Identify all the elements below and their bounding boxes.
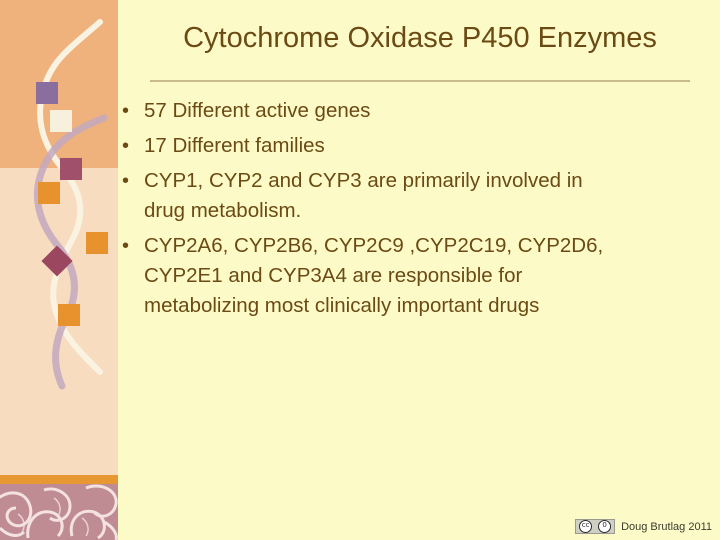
- slide: Cytochrome Oxidase P450 Enzymes • 57 Dif…: [0, 0, 720, 540]
- bullet-marker-icon: •: [118, 131, 144, 161]
- decorative-square-orange-1: [38, 182, 60, 204]
- list-item-text: CYP1, CYP2 and CYP3 are primarily involv…: [144, 166, 614, 226]
- sidebar-orange-band: [0, 475, 118, 484]
- list-item-text: 17 Different families: [144, 131, 614, 161]
- credit-text: Doug Brutlag 2011: [621, 521, 712, 533]
- list-item: • 57 Different active genes: [118, 96, 718, 126]
- decorative-sidebar: [0, 0, 118, 540]
- list-item-text: 57 Different active genes: [144, 96, 614, 126]
- bullet-list: • 57 Different active genes • 17 Differe…: [118, 96, 718, 326]
- list-item: • CYP1, CYP2 and CYP3 are primarily invo…: [118, 166, 718, 226]
- sidebar-paisley-panel: [0, 484, 118, 540]
- decorative-square-orange-2: [86, 232, 108, 254]
- bullet-marker-icon: •: [118, 166, 144, 196]
- decorative-square-purple: [36, 82, 58, 104]
- decorative-square-maroon: [60, 158, 82, 180]
- bullet-marker-icon: •: [118, 231, 144, 261]
- by-icon: 0: [598, 520, 611, 533]
- list-item: • 17 Different families: [118, 131, 718, 161]
- title-divider: [150, 80, 690, 82]
- creative-commons-badge-icon[interactable]: cc 0: [575, 519, 615, 534]
- cc-icon: cc: [579, 520, 592, 533]
- list-item: • CYP2A6, CYP2B6, CYP2C9 ,CYP2C19, CYP2D…: [118, 231, 718, 321]
- page-title: Cytochrome Oxidase P450 Enzymes: [140, 22, 700, 55]
- paisley-pattern: [0, 484, 118, 540]
- list-item-text: CYP2A6, CYP2B6, CYP2C9 ,CYP2C19, CYP2D6,…: [144, 231, 614, 321]
- bullet-marker-icon: •: [118, 96, 144, 126]
- decorative-square-orange-3: [58, 304, 80, 326]
- footer-credit: cc 0 Doug Brutlag 2011: [575, 519, 712, 534]
- decorative-square-cream: [50, 110, 72, 132]
